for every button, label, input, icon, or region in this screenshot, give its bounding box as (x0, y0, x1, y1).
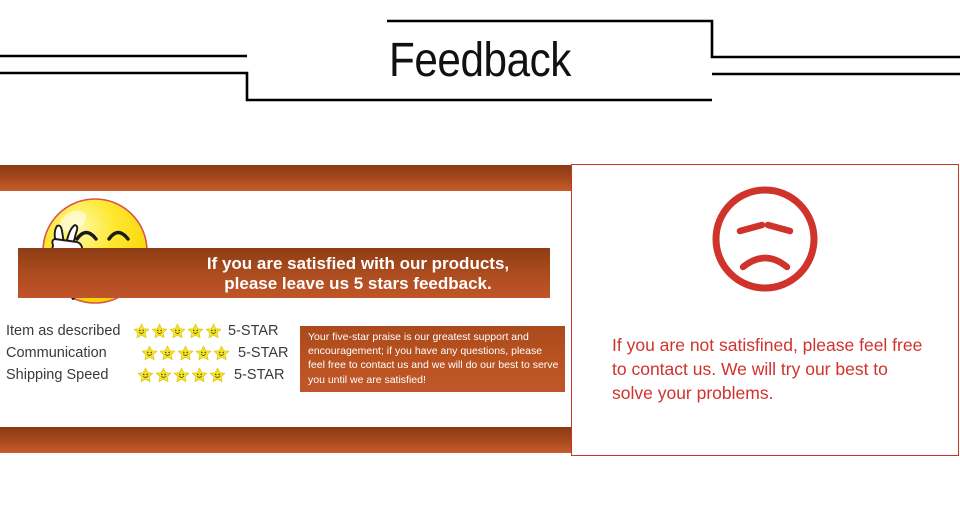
rating-row: Shipping Speed 5-STAR (2, 364, 294, 386)
panel-top-bar (0, 165, 572, 191)
star-icon (159, 345, 176, 362)
rating-value: 5-STAR (228, 323, 279, 339)
banner-line-1: If you are satisfied with our products, (207, 254, 509, 273)
rating-stars (137, 367, 226, 384)
rating-label: Item as described (6, 323, 120, 339)
satisfied-banner: If you are satisfied with our products, … (18, 248, 550, 298)
star-icon (187, 323, 204, 340)
feedback-page: Feedback (0, 0, 960, 505)
star-icon (209, 367, 226, 384)
satisfied-panel: If you are satisfied with our products, … (0, 165, 572, 453)
satisfied-banner-text: If you are satisfied with our products, … (173, 254, 543, 294)
star-icon (191, 367, 208, 384)
star-icon (137, 367, 154, 384)
praise-box: Your five-star praise is our greatest su… (300, 326, 565, 392)
unsatisfied-text: If you are not satisfined, please feel f… (612, 333, 932, 405)
star-icon (173, 367, 190, 384)
star-icon (133, 323, 150, 340)
star-icon (213, 345, 230, 362)
star-icon (177, 345, 194, 362)
star-icon (169, 323, 186, 340)
rating-value: 5-STAR (234, 367, 285, 383)
star-icon (205, 323, 222, 340)
rating-row: Communication 5-STAR (2, 342, 294, 364)
unsatisfied-panel: If you are not satisfined, please feel f… (571, 164, 959, 456)
rating-stars (133, 323, 222, 340)
star-icon (155, 367, 172, 384)
star-icon (151, 323, 168, 340)
sad-face-icon (702, 183, 828, 301)
rating-stars (141, 345, 230, 362)
rating-label: Shipping Speed (6, 367, 108, 383)
star-icon (141, 345, 158, 362)
ratings-list: Item as described 5-STAR Communication (2, 320, 294, 386)
page-title: Feedback (58, 32, 903, 90)
star-icon (195, 345, 212, 362)
rating-label: Communication (6, 345, 107, 361)
banner-line-2: please leave us 5 stars feedback. (173, 274, 543, 294)
rating-value: 5-STAR (238, 345, 289, 361)
rating-row: Item as described 5-STAR (2, 320, 294, 342)
page-header: Feedback (0, 0, 960, 155)
praise-text: Your five-star praise is our greatest su… (308, 330, 560, 387)
panel-bottom-bar (0, 427, 572, 453)
